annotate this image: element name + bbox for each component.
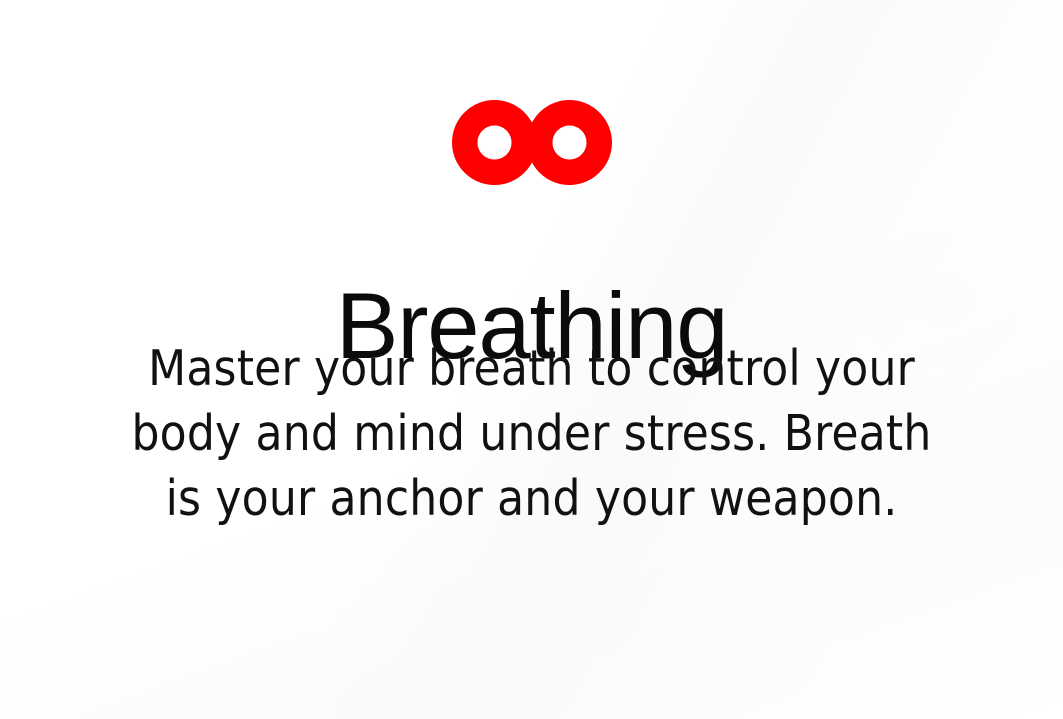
description-line: body and mind under stress. Breath	[0, 401, 1063, 466]
double-ring-infinity-icon	[452, 98, 612, 188]
description-line: Master your breath to control your	[0, 336, 1063, 401]
slide-content: Breathing Master your breath to control …	[0, 0, 1063, 719]
logo-container	[0, 98, 1063, 188]
description-text: Master your breath to control your body …	[0, 336, 1063, 531]
slide-canvas: Breathing Master your breath to control …	[0, 0, 1063, 719]
description-line: is your anchor and your weapon.	[0, 466, 1063, 531]
